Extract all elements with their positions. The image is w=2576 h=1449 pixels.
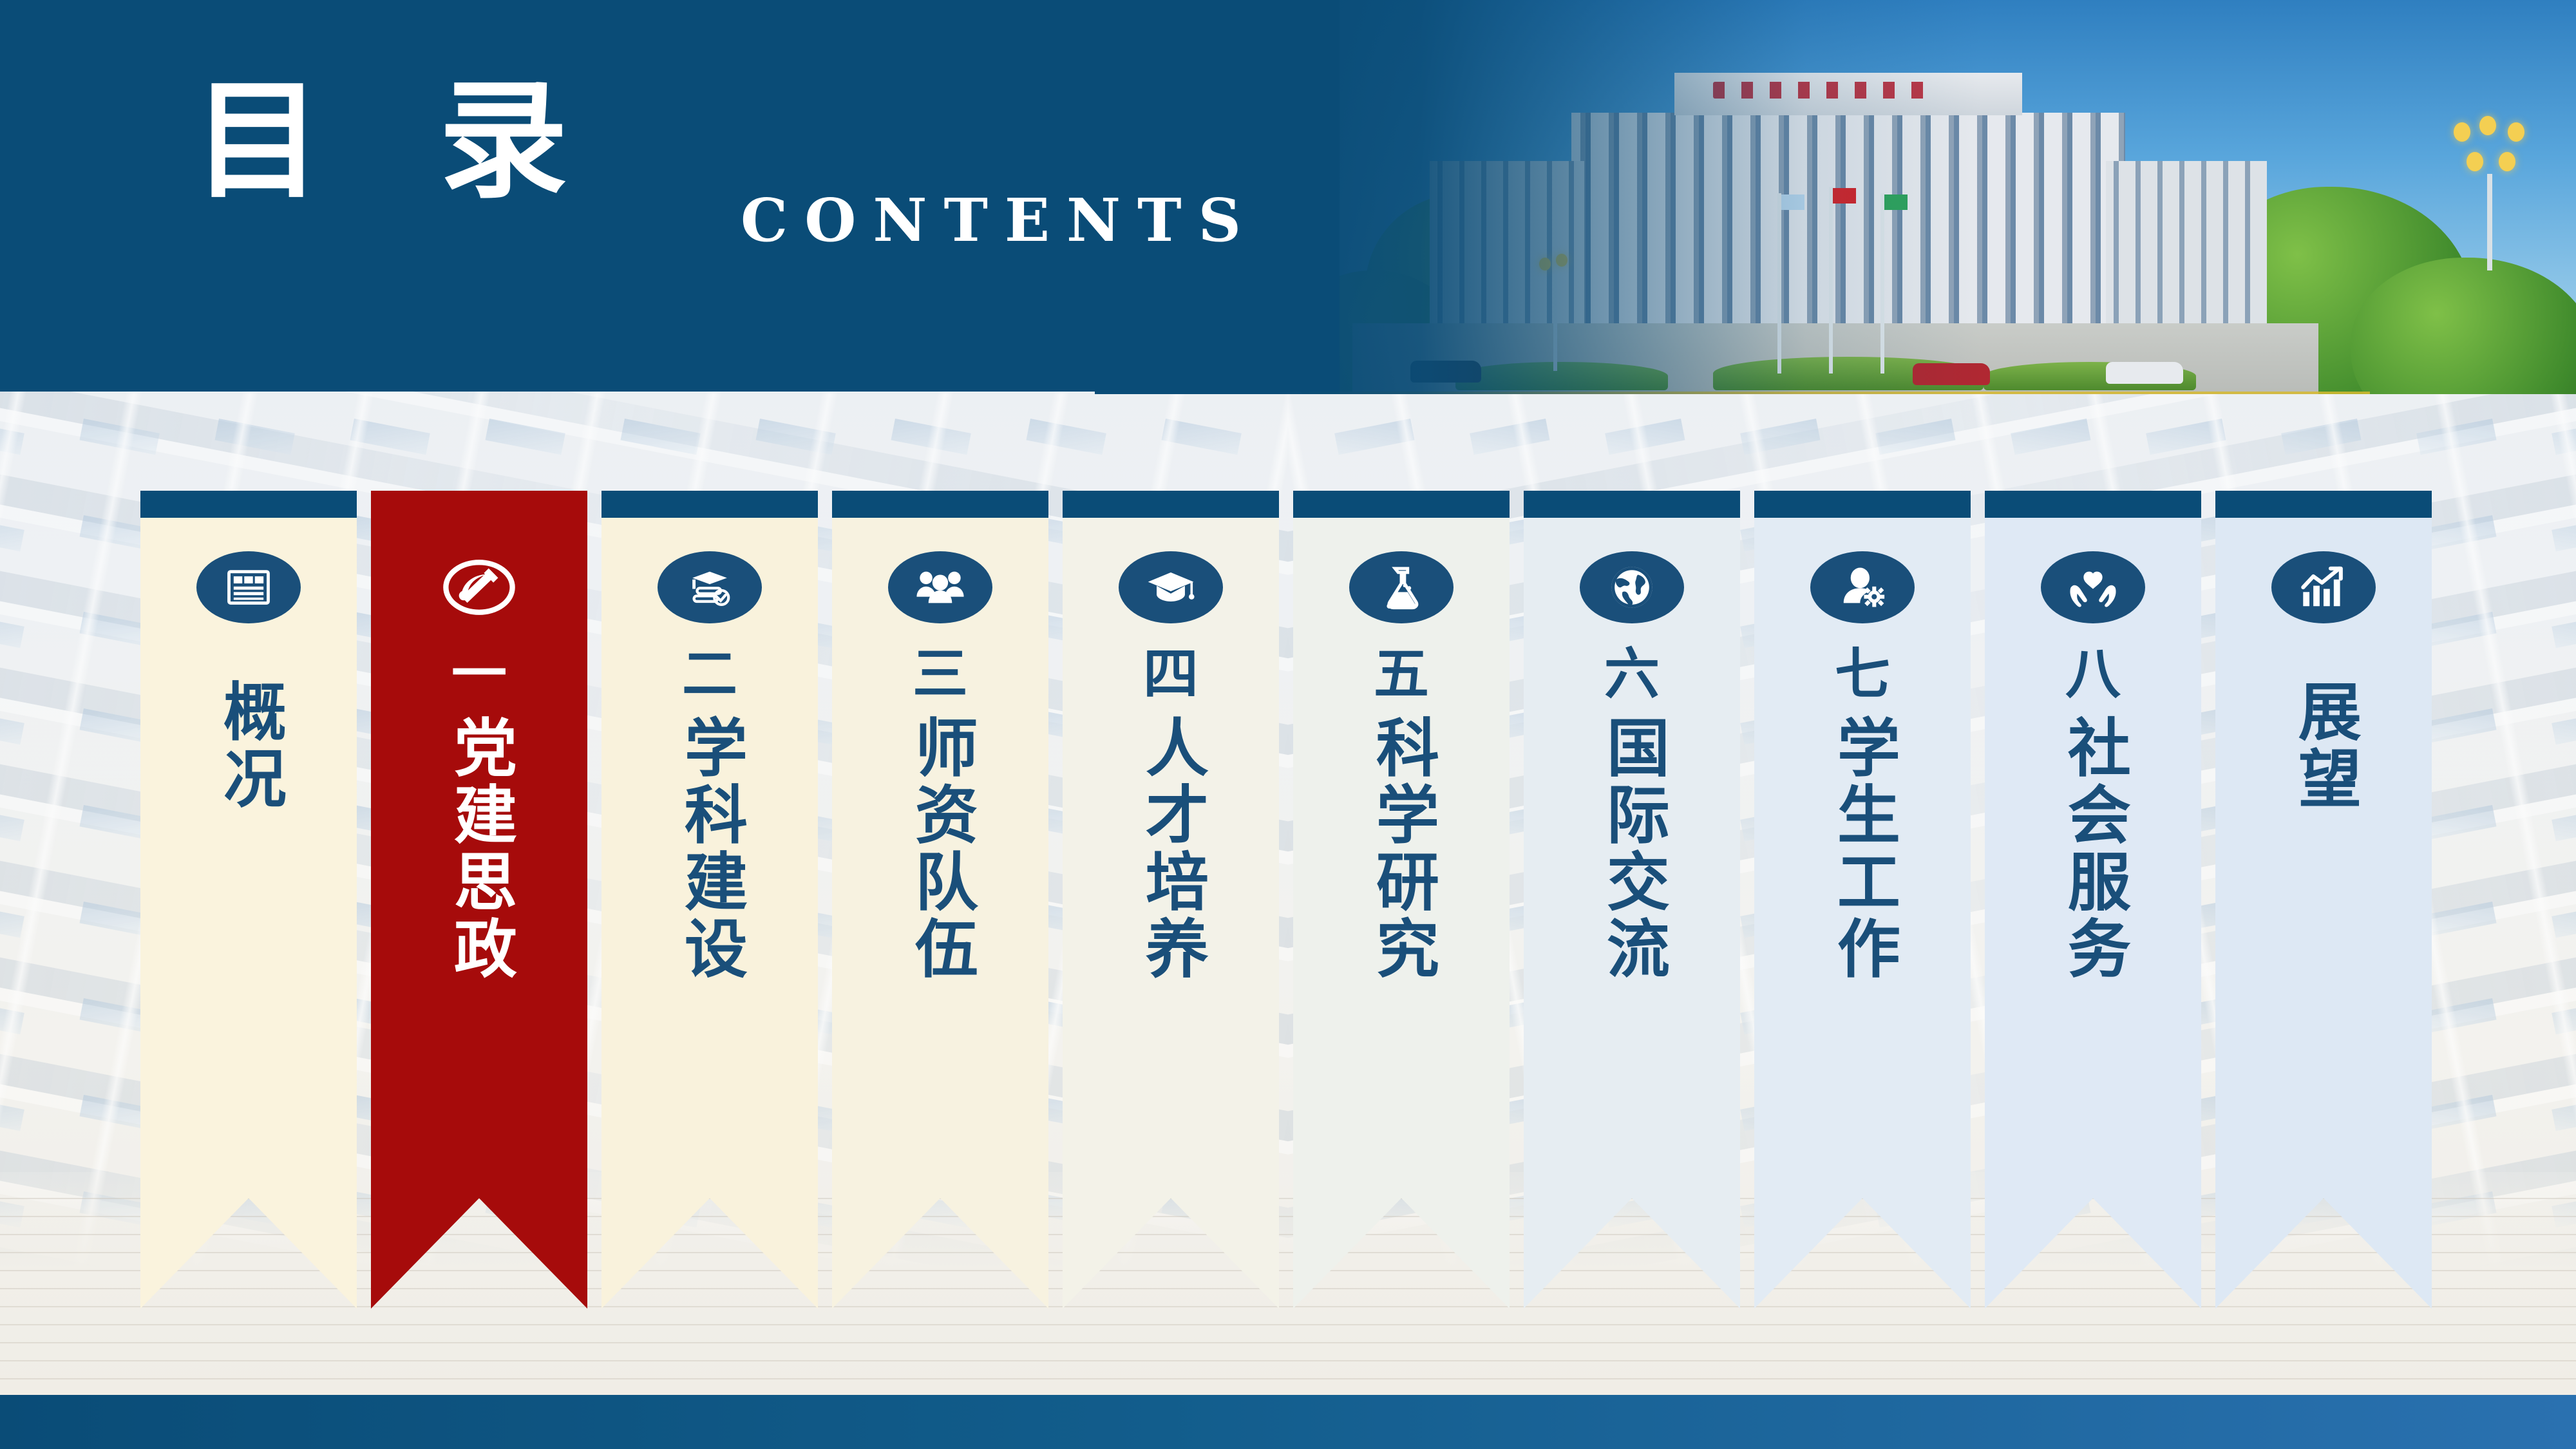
card-top-bar — [1754, 491, 1971, 518]
card-number: 三 — [913, 647, 968, 702]
books-check-icon — [658, 551, 762, 623]
contents-card-5[interactable]: 四人才培养 — [1063, 491, 1279, 1309]
growth-chart-icon — [2271, 551, 2376, 623]
card-top-bar — [1293, 491, 1510, 518]
card-label: 社会服务 — [2058, 715, 2128, 983]
footer-bar — [0, 1395, 2576, 1449]
contents-card-2[interactable]: 一党建思政 — [371, 491, 587, 1309]
contents-card-4[interactable]: 三师资队伍 — [832, 491, 1048, 1309]
page-subtitle: CONTENTS — [741, 191, 1258, 250]
card-label: 学生工作 — [1828, 715, 1897, 983]
card-label: 国际交流 — [1597, 715, 1667, 983]
card-body: 五科学研究 — [1293, 518, 1510, 1309]
card-label: 概况 — [214, 679, 283, 813]
card-label: 人才培养 — [1136, 715, 1206, 983]
card-top-bar — [601, 491, 818, 518]
card-body: 展望 — [2215, 518, 2432, 1309]
globe-icon — [1580, 551, 1684, 623]
card-number: 七 — [1835, 647, 1890, 702]
flask-icon — [1349, 551, 1454, 623]
card-number: 四 — [1143, 647, 1198, 702]
card-top-bar — [1524, 491, 1740, 518]
card-body: 六国际交流 — [1524, 518, 1740, 1309]
card-body: 七学生工作 — [1754, 518, 1971, 1309]
contents-card-10[interactable]: 展望 — [2215, 491, 2432, 1309]
card-top-bar — [140, 491, 357, 518]
contents-card-9[interactable]: 八社会服务 — [1985, 491, 2201, 1309]
card-number: 一 — [451, 647, 507, 702]
page-title: 目 录 — [193, 77, 604, 206]
card-number: 六 — [1604, 647, 1660, 702]
card-label: 师资队伍 — [905, 715, 975, 983]
card-body: 三师资队伍 — [832, 518, 1048, 1309]
contents-card-7[interactable]: 六国际交流 — [1524, 491, 1740, 1309]
card-body: 一党建思政 — [371, 518, 587, 1309]
contents-card-list: 概况一党建思政二学科建设三师资队伍四人才培养五科学研究六国际交流七学生工作八社会… — [0, 0, 2576, 1449]
contents-card-6[interactable]: 五科学研究 — [1293, 491, 1510, 1309]
card-top-bar — [1985, 491, 2201, 518]
card-number: 八 — [2065, 647, 2121, 702]
card-top-bar — [371, 491, 587, 518]
card-label: 学科建设 — [675, 715, 744, 983]
card-label: 科学研究 — [1367, 715, 1436, 983]
contents-slide: 目 录 CONTENTS 概况一党建思政二学科建设三师资队伍四人才培养五科学研究… — [0, 0, 2576, 1449]
contents-card-8[interactable]: 七学生工作 — [1754, 491, 1971, 1309]
party-emblem-icon — [427, 551, 531, 623]
card-number: 二 — [682, 647, 737, 702]
card-top-bar — [832, 491, 1048, 518]
card-body: 二学科建设 — [601, 518, 818, 1309]
contents-card-3[interactable]: 二学科建设 — [601, 491, 818, 1309]
card-label: 展望 — [2289, 679, 2358, 813]
graduation-cap-icon — [1119, 551, 1223, 623]
card-top-bar — [2215, 491, 2432, 518]
user-gear-icon — [1810, 551, 1915, 623]
newspaper-icon — [196, 551, 301, 623]
card-top-bar — [1063, 491, 1279, 518]
card-number: 五 — [1374, 647, 1429, 702]
card-body: 概况 — [140, 518, 357, 1309]
team-icon — [888, 551, 992, 623]
contents-card-1[interactable]: 概况 — [140, 491, 357, 1309]
card-body: 八社会服务 — [1985, 518, 2201, 1309]
card-label: 党建思政 — [444, 715, 514, 983]
card-body: 四人才培养 — [1063, 518, 1279, 1309]
hands-heart-icon — [2041, 551, 2145, 623]
